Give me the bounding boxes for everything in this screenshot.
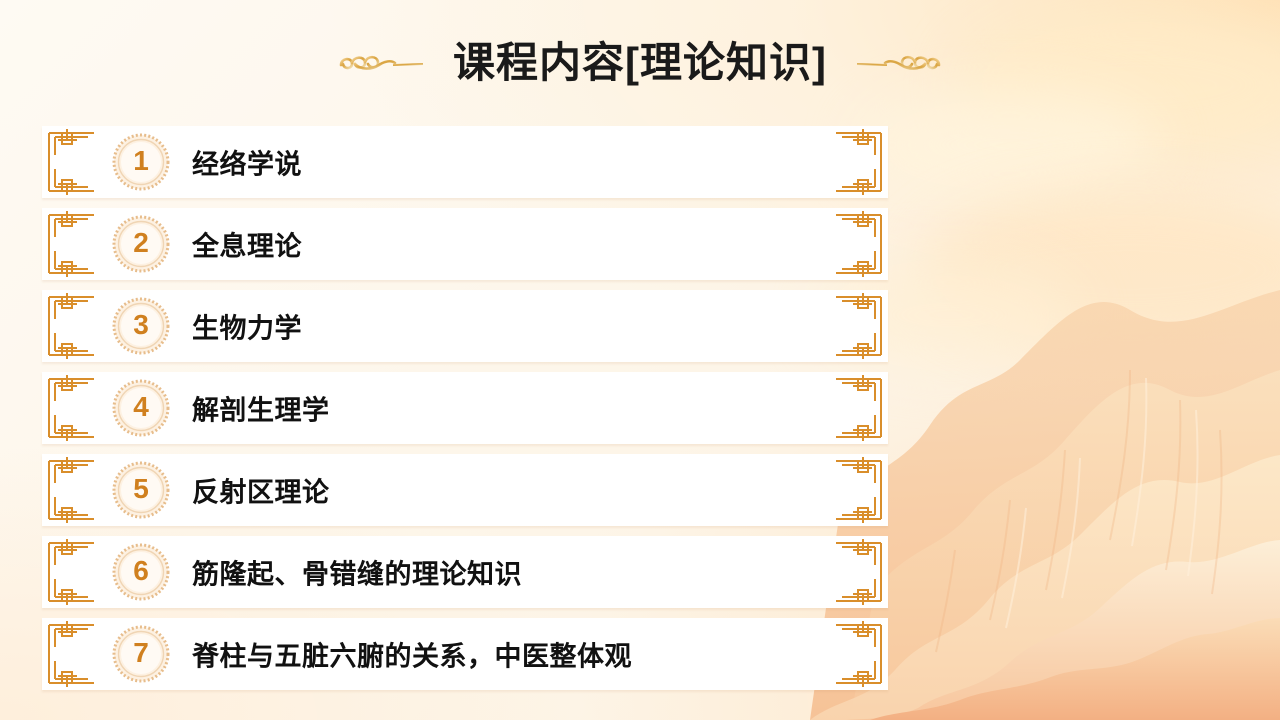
meander-frame-right-icon [832, 374, 886, 442]
meander-frame-left-icon [44, 538, 98, 606]
item-number-badge: 3 [112, 297, 170, 355]
meander-frame-right-icon [832, 620, 886, 688]
list-item-1[interactable]: 1 经络学说 [42, 126, 888, 198]
meander-frame-right-icon [832, 292, 886, 360]
item-number: 7 [112, 625, 170, 683]
course-content-list: 1 经络学说 [42, 126, 888, 690]
item-number: 4 [112, 379, 170, 437]
item-number: 2 [112, 215, 170, 273]
item-label: 经络学说 [192, 143, 824, 182]
list-item-5[interactable]: 5 反射区理论 [42, 454, 888, 526]
scroll-flourish-right-icon [853, 46, 945, 80]
item-number-badge: 5 [112, 461, 170, 519]
slide-root: 课程内容[理论知识] [0, 0, 1280, 720]
item-number: 6 [112, 543, 170, 601]
item-number-badge: 7 [112, 625, 170, 683]
item-label: 筋隆起、骨错缝的理论知识 [192, 553, 824, 592]
meander-frame-left-icon [44, 456, 98, 524]
list-item-6[interactable]: 6 筋隆起、骨错缝的理论知识 [42, 536, 888, 608]
title-row: 课程内容[理论知识] [0, 28, 1280, 98]
list-item-2[interactable]: 2 全息理论 [42, 208, 888, 280]
meander-frame-left-icon [44, 620, 98, 688]
meander-frame-left-icon [44, 128, 98, 196]
item-number-badge: 4 [112, 379, 170, 437]
item-number: 3 [112, 297, 170, 355]
list-item-4[interactable]: 4 解剖生理学 [42, 372, 888, 444]
item-label: 解剖生理学 [192, 389, 824, 428]
list-item-7[interactable]: 7 脊柱与五脏六腑的关系，中医整体观 [42, 618, 888, 690]
list-item-3[interactable]: 3 生物力学 [42, 290, 888, 362]
item-number-badge: 1 [112, 133, 170, 191]
meander-frame-right-icon [832, 128, 886, 196]
meander-frame-right-icon [832, 538, 886, 606]
meander-frame-right-icon [832, 210, 886, 278]
item-number: 5 [112, 461, 170, 519]
item-number-badge: 6 [112, 543, 170, 601]
item-number-badge: 2 [112, 215, 170, 273]
meander-frame-right-icon [832, 456, 886, 524]
item-label: 脊柱与五脏六腑的关系，中医整体观 [192, 635, 824, 674]
scroll-flourish-left-icon [335, 46, 427, 80]
page-title: 课程内容[理论知识] [453, 42, 827, 84]
meander-frame-left-icon [44, 374, 98, 442]
item-number: 1 [112, 133, 170, 191]
item-label: 反射区理论 [192, 471, 824, 510]
meander-frame-left-icon [44, 292, 98, 360]
item-label: 生物力学 [192, 307, 824, 346]
item-label: 全息理论 [192, 225, 824, 264]
meander-frame-left-icon [44, 210, 98, 278]
cloud-decoration [860, 90, 1160, 200]
